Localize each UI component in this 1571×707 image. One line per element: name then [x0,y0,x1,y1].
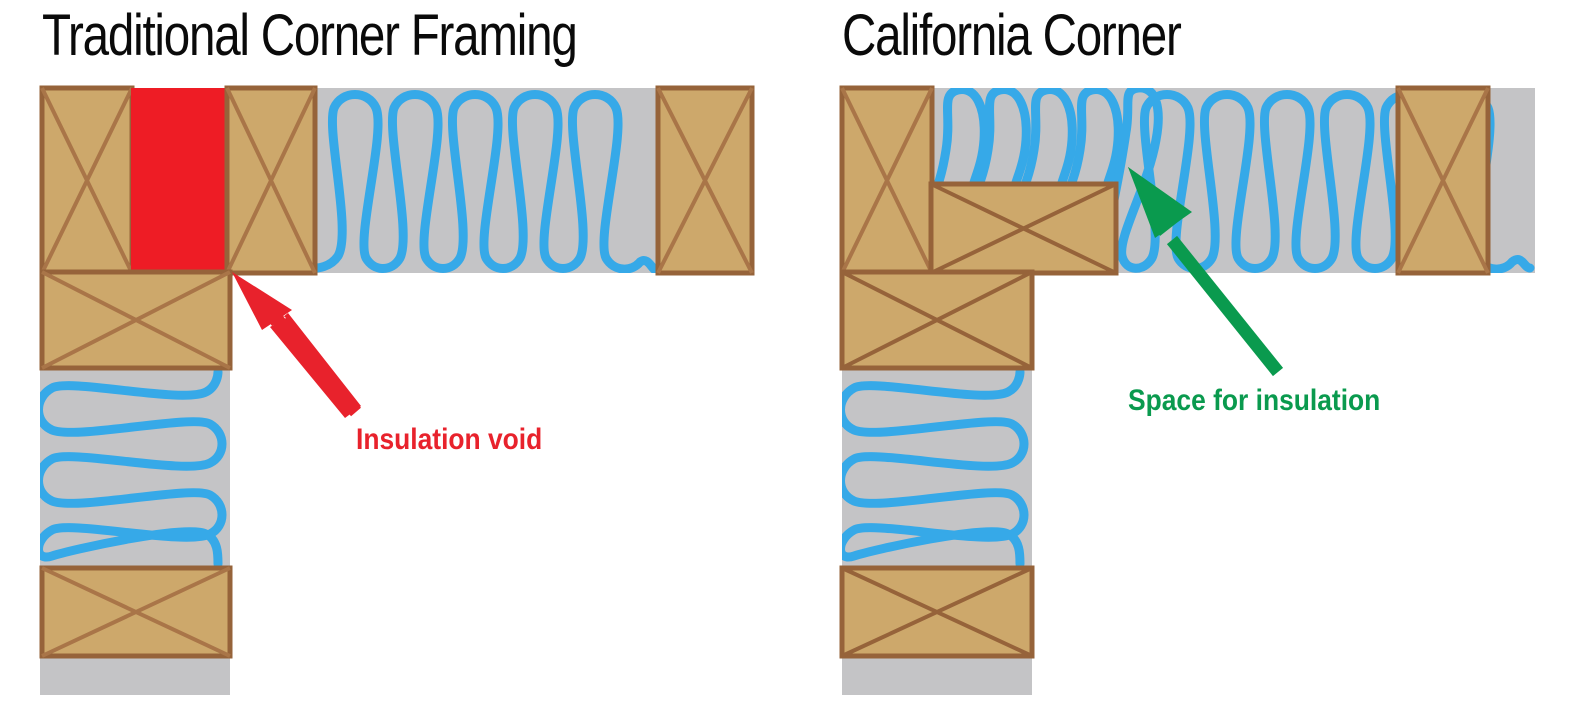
stud-inner-vertical-left [227,88,315,273]
panel-traditional-corner: Traditional Corner Framing [0,0,800,707]
stud-side-upper-left [42,272,230,368]
stud-corner-vertical-right [842,88,932,273]
stud-california-flat-block [931,184,1116,273]
insulation-void-block [131,88,228,273]
stud-corner-vertical-left [42,88,132,273]
stud-side-upper-right [842,272,1032,368]
stud-side-lower-left [42,568,230,656]
stud-right-end-top-left [658,88,752,273]
panel-california-corner: California Corner [800,0,1571,707]
california-corner-drawing [800,0,1571,707]
red-arrow-icon [232,272,361,418]
stud-side-lower-right [842,568,1032,656]
stud-right-end-top-right [1398,88,1488,273]
diagram-canvas: Traditional Corner Framing [0,0,1571,707]
callout-label-space-for-insulation: Space for insulation [1128,384,1380,418]
callout-label-insulation-void: Insulation void [356,423,542,457]
cavity-side-bottom-left [40,655,230,695]
traditional-corner-drawing [0,0,800,707]
cavity-side-bottom-right [842,655,1032,695]
